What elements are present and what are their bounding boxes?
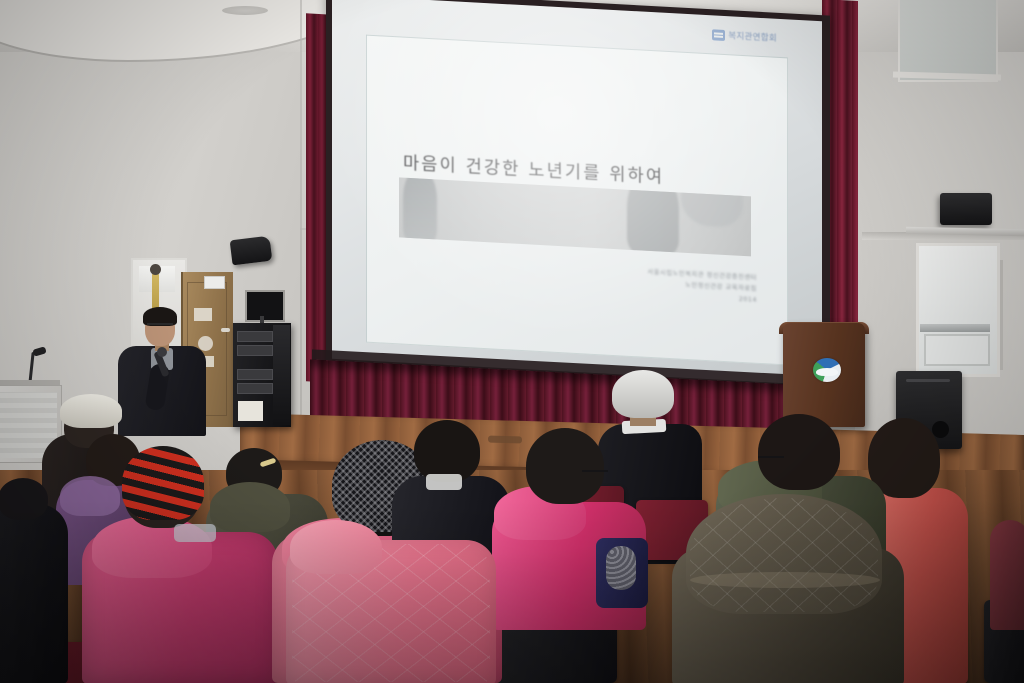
rack-unit [237, 345, 273, 356]
podium-emblem-icon [813, 358, 841, 382]
hat-brim [690, 572, 880, 588]
side-window-sash [920, 324, 990, 332]
wall-pipe [1000, 260, 1003, 370]
slide-subtitle-block: 서울시립노인복지관 정신건강증진센터 노인정신건강 교육자료집 2014 [647, 267, 757, 306]
attendee-pink-jacket [492, 428, 646, 628]
attendee-hood [290, 520, 382, 574]
rack-unit [237, 383, 273, 394]
striped-beanie [122, 446, 204, 520]
attendee-brown-quilted-hat [672, 494, 904, 683]
attendee-right-edge [990, 520, 1024, 630]
audio-video-rack [233, 323, 291, 427]
projection-screen: 복지관연합회 마음이 건강한 노년기를 위하여 서울시립노인복지관 정신건강증진… [332, 0, 822, 385]
attendee-head [526, 428, 604, 504]
slide-figure-right2-icon [681, 177, 743, 228]
attendee-head [414, 420, 480, 482]
bag-detail [606, 546, 636, 590]
rack-side-column [273, 325, 290, 425]
upper-window-with-blind [898, 0, 998, 82]
wall-speaker-left-icon [230, 236, 273, 266]
attendee-scarf [174, 524, 216, 542]
slide-image-band [399, 177, 751, 256]
white-flat-cap [60, 394, 122, 428]
attendee-collar [426, 474, 462, 490]
slide-logo: 복지관연합회 [712, 28, 777, 44]
attendee-coat [990, 520, 1024, 630]
ceiling-light-icon [222, 6, 268, 15]
attendee-left-edge-dark [0, 478, 68, 683]
slide-figure-left-icon [403, 177, 437, 243]
slide-figure-right-icon [627, 177, 679, 254]
hat-quilt-pattern [690, 498, 878, 612]
attendee-head [0, 478, 48, 520]
standing-attendee-hair [612, 370, 674, 418]
attendee-light-pink-jacket [286, 520, 496, 683]
alcove-knob-icon [150, 264, 161, 275]
side-window-lower-pane [924, 334, 990, 366]
posted-notice [238, 401, 263, 421]
rack-unit [237, 369, 273, 380]
attendee-coat [0, 504, 68, 683]
attendee-striped-beanie [78, 440, 278, 683]
lecture-hall-scene: 복지관연합회 마음이 건강한 노년기를 위하여 서울시립노인복지관 정신건강증진… [0, 0, 1024, 683]
rack-monitor [245, 290, 285, 322]
presentation-slide: 복지관연합회 마음이 건강한 노년기를 위하여 서울시립노인복지관 정신건강증진… [366, 35, 788, 366]
attendee-head [758, 414, 840, 490]
wall-speaker-right-icon [940, 193, 992, 225]
microphone-head-icon [157, 347, 167, 357]
slide-logo-mark-icon [712, 29, 725, 41]
attendee-glasses-icon [758, 456, 784, 464]
rack-unit [237, 331, 273, 342]
wall-sign [204, 276, 225, 289]
door-handle-icon[interactable] [221, 328, 230, 332]
attendee-glasses-icon [582, 470, 608, 478]
presenter-glasses-icon [147, 323, 173, 330]
slide-logo-text: 복지관연합회 [728, 29, 777, 44]
